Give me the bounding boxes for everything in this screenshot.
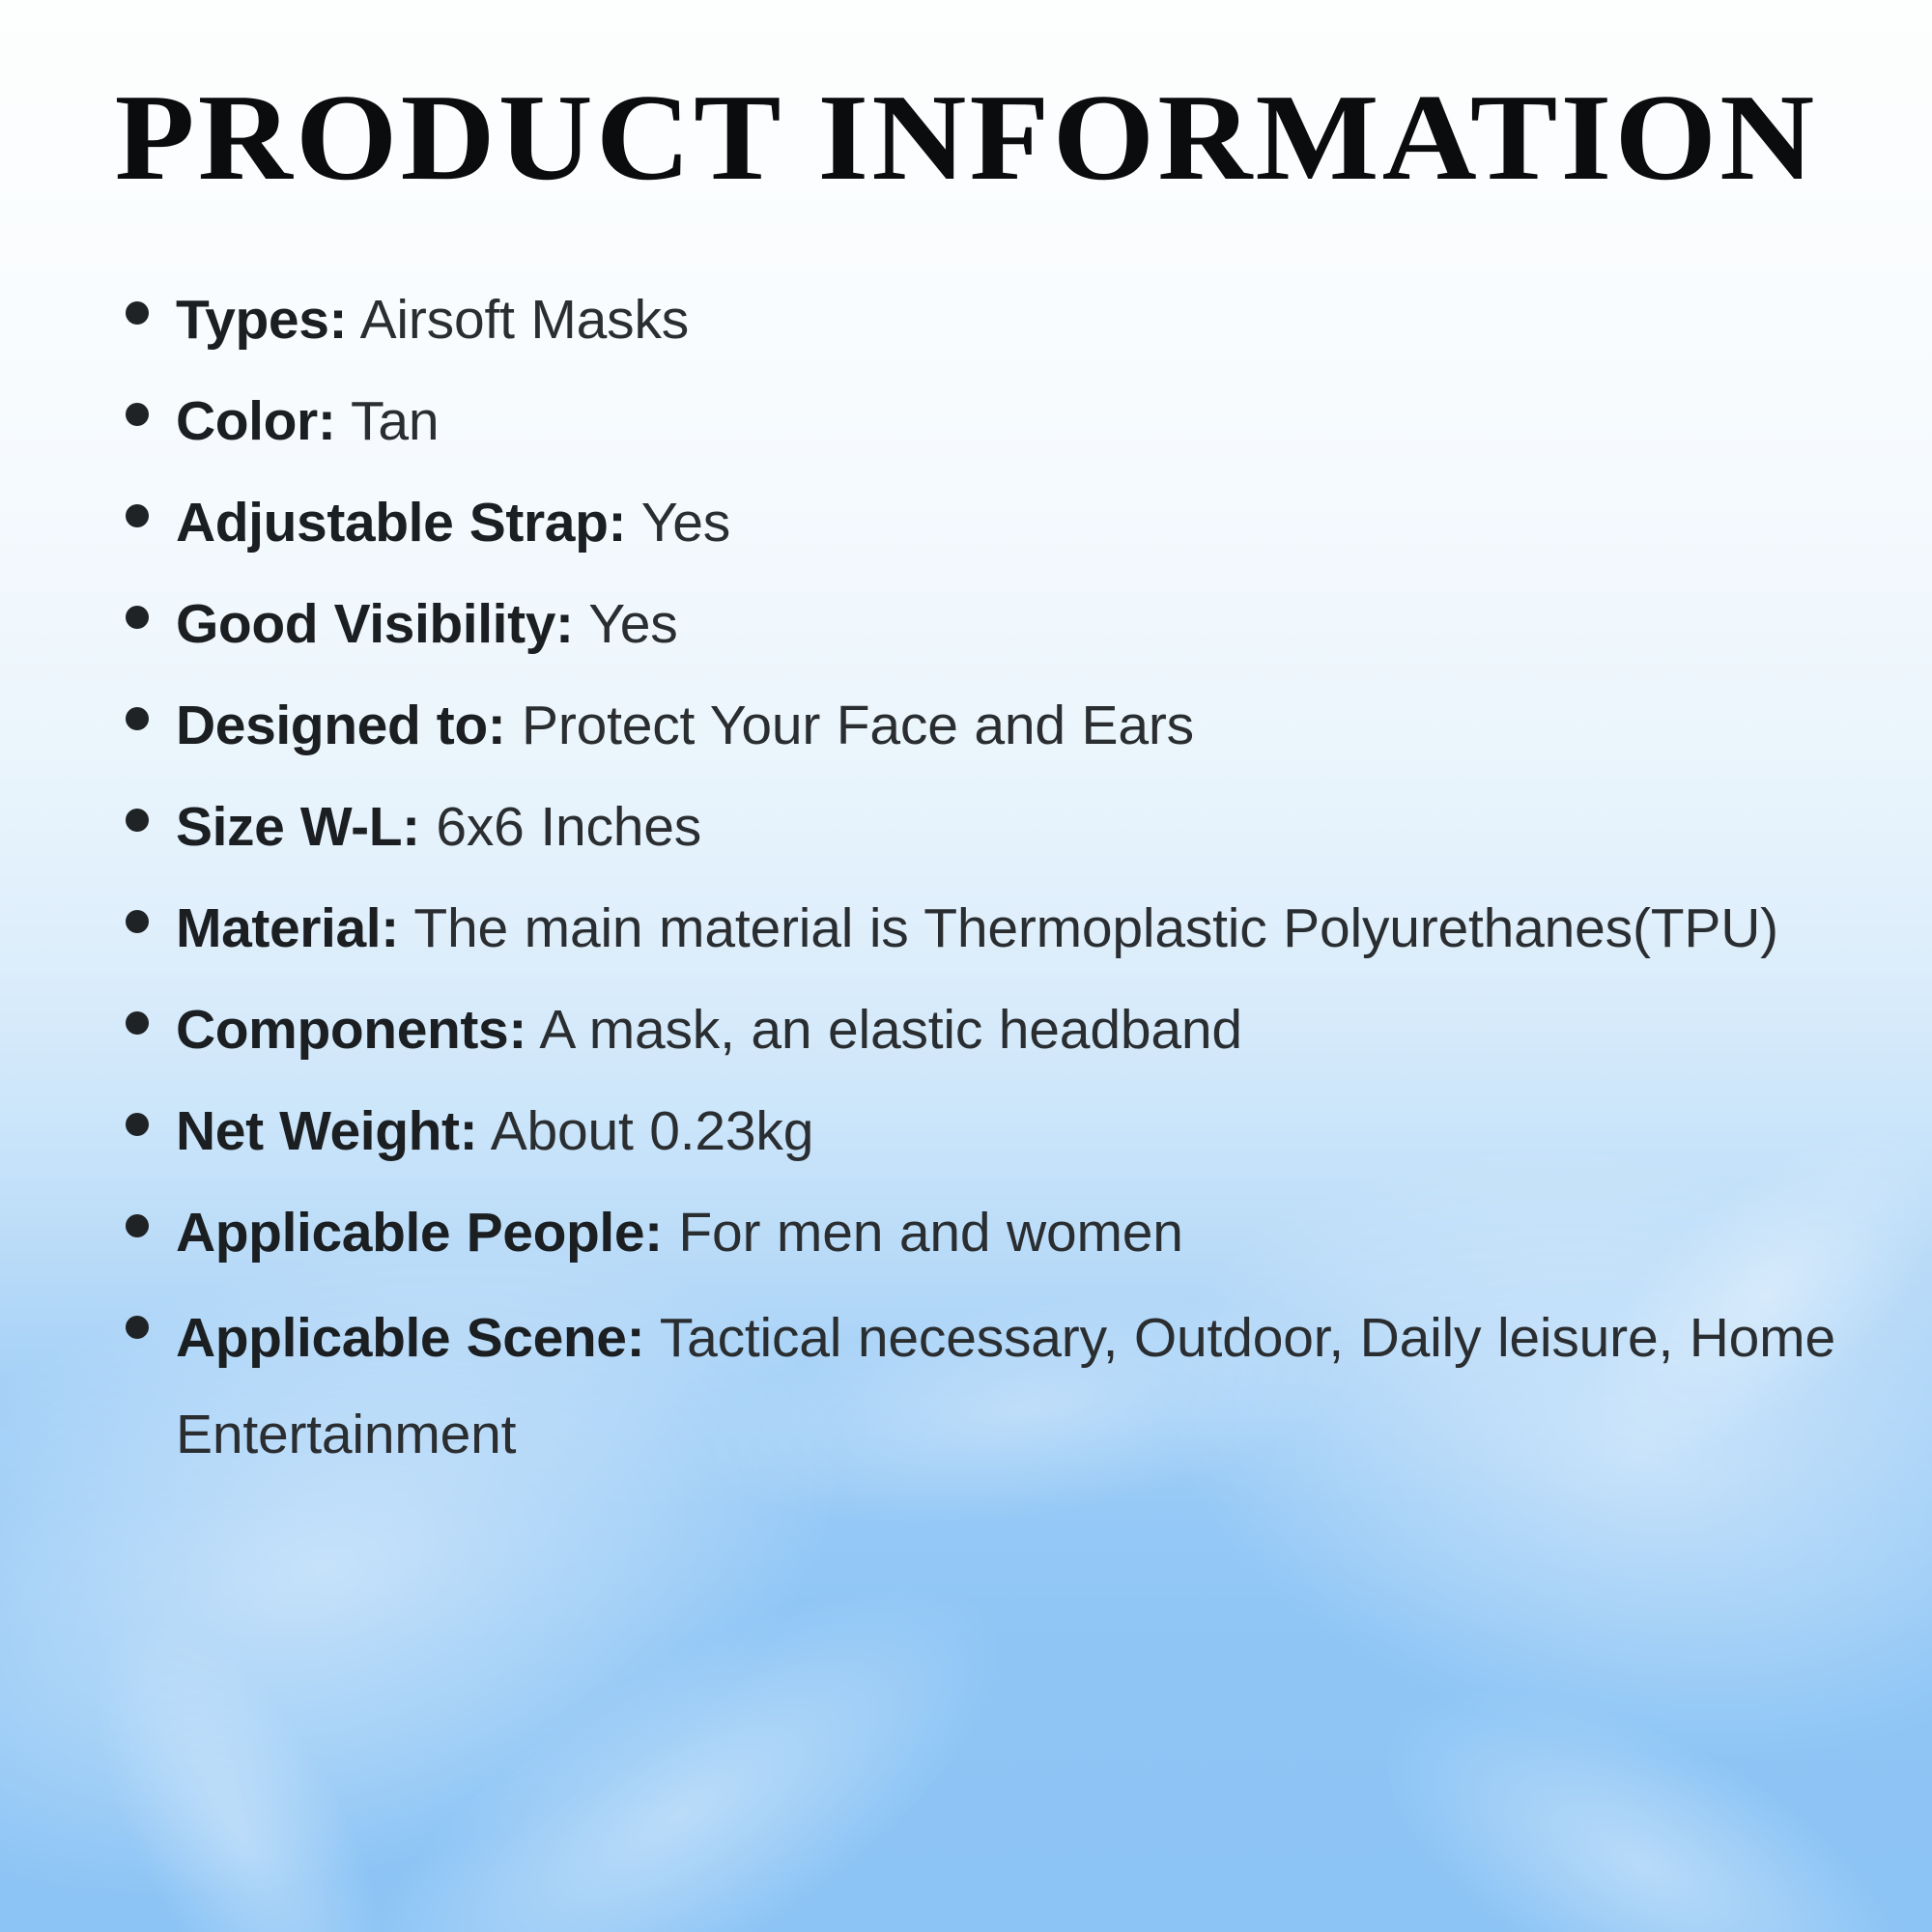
bullet-icon [126,301,149,325]
spec-text: Good Visibility: Yes [176,580,1864,669]
spec-item: Color: Tan [126,377,1864,467]
spec-item: Material: The main material is Thermopla… [126,884,1864,974]
spec-item: Components: A mask, an elastic headband [126,985,1864,1075]
spec-text: Adjustable Strap: Yes [176,478,1864,568]
product-spec-list: Types: Airsoft MasksColor: TanAdjustable… [126,275,1864,1494]
spec-label: Size W-L: [176,796,420,858]
product-information-poster: PRODUCT INFORMATION Types: Airsoft Masks… [0,0,1932,1932]
spec-value: About 0.23kg [491,1100,814,1162]
spec-label: Material: [176,897,399,959]
spec-value: Yes [641,492,730,554]
bullet-icon [126,910,149,933]
spec-text: Applicable People: For men and women [176,1188,1864,1278]
spec-item: Applicable Scene: Tactical necessary, Ou… [126,1290,1864,1483]
spec-value: Airsoft Masks [360,289,689,351]
spec-label: Color: [176,390,335,452]
bullet-icon [126,403,149,426]
spec-text: Types: Airsoft Masks [176,275,1864,365]
spec-item: Net Weight: About 0.23kg [126,1087,1864,1177]
bullet-icon [126,1113,149,1136]
spec-value: For men and women [678,1202,1182,1264]
page-title: PRODUCT INFORMATION [0,75,1932,199]
spec-item: Types: Airsoft Masks [126,275,1864,365]
spec-label: Adjustable Strap: [176,492,626,554]
spec-label: Applicable Scene: [176,1307,644,1369]
spec-label: Good Visibility: [176,593,574,655]
spec-label: Components: [176,999,526,1061]
spec-value: Yes [588,593,677,655]
spec-item: Applicable People: For men and women [126,1188,1864,1278]
spec-text: Net Weight: About 0.23kg [176,1087,1864,1177]
bullet-icon [126,1316,149,1339]
spec-text: Designed to: Protect Your Face and Ears [176,681,1864,771]
spec-value: Protect Your Face and Ears [522,695,1194,756]
spec-value: 6x6 Inches [436,796,701,858]
spec-text: Applicable Scene: Tactical necessary, Ou… [176,1290,1864,1483]
spec-value: A mask, an elastic headband [539,999,1241,1061]
spec-text: Color: Tan [176,377,1864,467]
bullet-icon [126,809,149,832]
spec-item: Good Visibility: Yes [126,580,1864,669]
spec-text: Material: The main material is Thermopla… [176,884,1864,974]
bullet-icon [126,504,149,527]
spec-text: Size W-L: 6x6 Inches [176,782,1864,872]
bullet-icon [126,1214,149,1237]
spec-item: Designed to: Protect Your Face and Ears [126,681,1864,771]
spec-text: Components: A mask, an elastic headband [176,985,1864,1075]
spec-label: Applicable People: [176,1202,663,1264]
spec-label: Designed to: [176,695,505,756]
spec-label: Types: [176,289,347,351]
spec-item: Size W-L: 6x6 Inches [126,782,1864,872]
spec-item: Adjustable Strap: Yes [126,478,1864,568]
spec-label: Net Weight: [176,1100,477,1162]
spec-value: The main material is Thermoplastic Polyu… [413,897,1778,959]
bullet-icon [126,1011,149,1035]
bullet-icon [126,707,149,730]
bullet-icon [126,606,149,629]
spec-value: Tan [351,390,439,452]
